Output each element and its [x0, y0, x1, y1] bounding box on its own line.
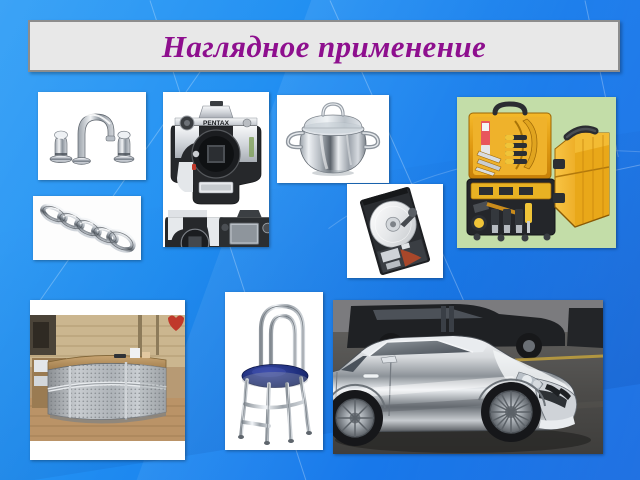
chrome-faucet-photo — [38, 92, 146, 180]
image-frame-desk — [30, 300, 185, 460]
slide-title: Наглядное применение — [162, 31, 486, 62]
chrome-chair-photo — [225, 292, 323, 450]
image-frame-hdd — [347, 184, 443, 278]
image-frame-toolcase — [457, 97, 616, 248]
image-frame-pot — [277, 95, 389, 183]
steel-pot-photo — [277, 95, 389, 183]
metal-chain-photo — [33, 196, 141, 260]
tool-case-photo — [457, 97, 616, 248]
slide-title-box: Наглядное применение — [28, 20, 620, 72]
image-frame-chain — [33, 196, 141, 260]
image-frame-camera: PENTAX — [163, 92, 269, 247]
hard-disk-drive-photo — [347, 184, 443, 278]
dslr-camera-photo: PENTAX — [163, 92, 269, 247]
image-frame-chair — [225, 292, 323, 450]
image-frame-car — [333, 300, 603, 454]
chrome-car-photo — [333, 300, 603, 454]
reception-desk-photo — [30, 300, 185, 460]
slide-canvas: Наглядное применение — [0, 0, 640, 480]
image-frame-faucet — [38, 92, 146, 180]
camera-brand-text: PENTAX — [203, 120, 230, 127]
